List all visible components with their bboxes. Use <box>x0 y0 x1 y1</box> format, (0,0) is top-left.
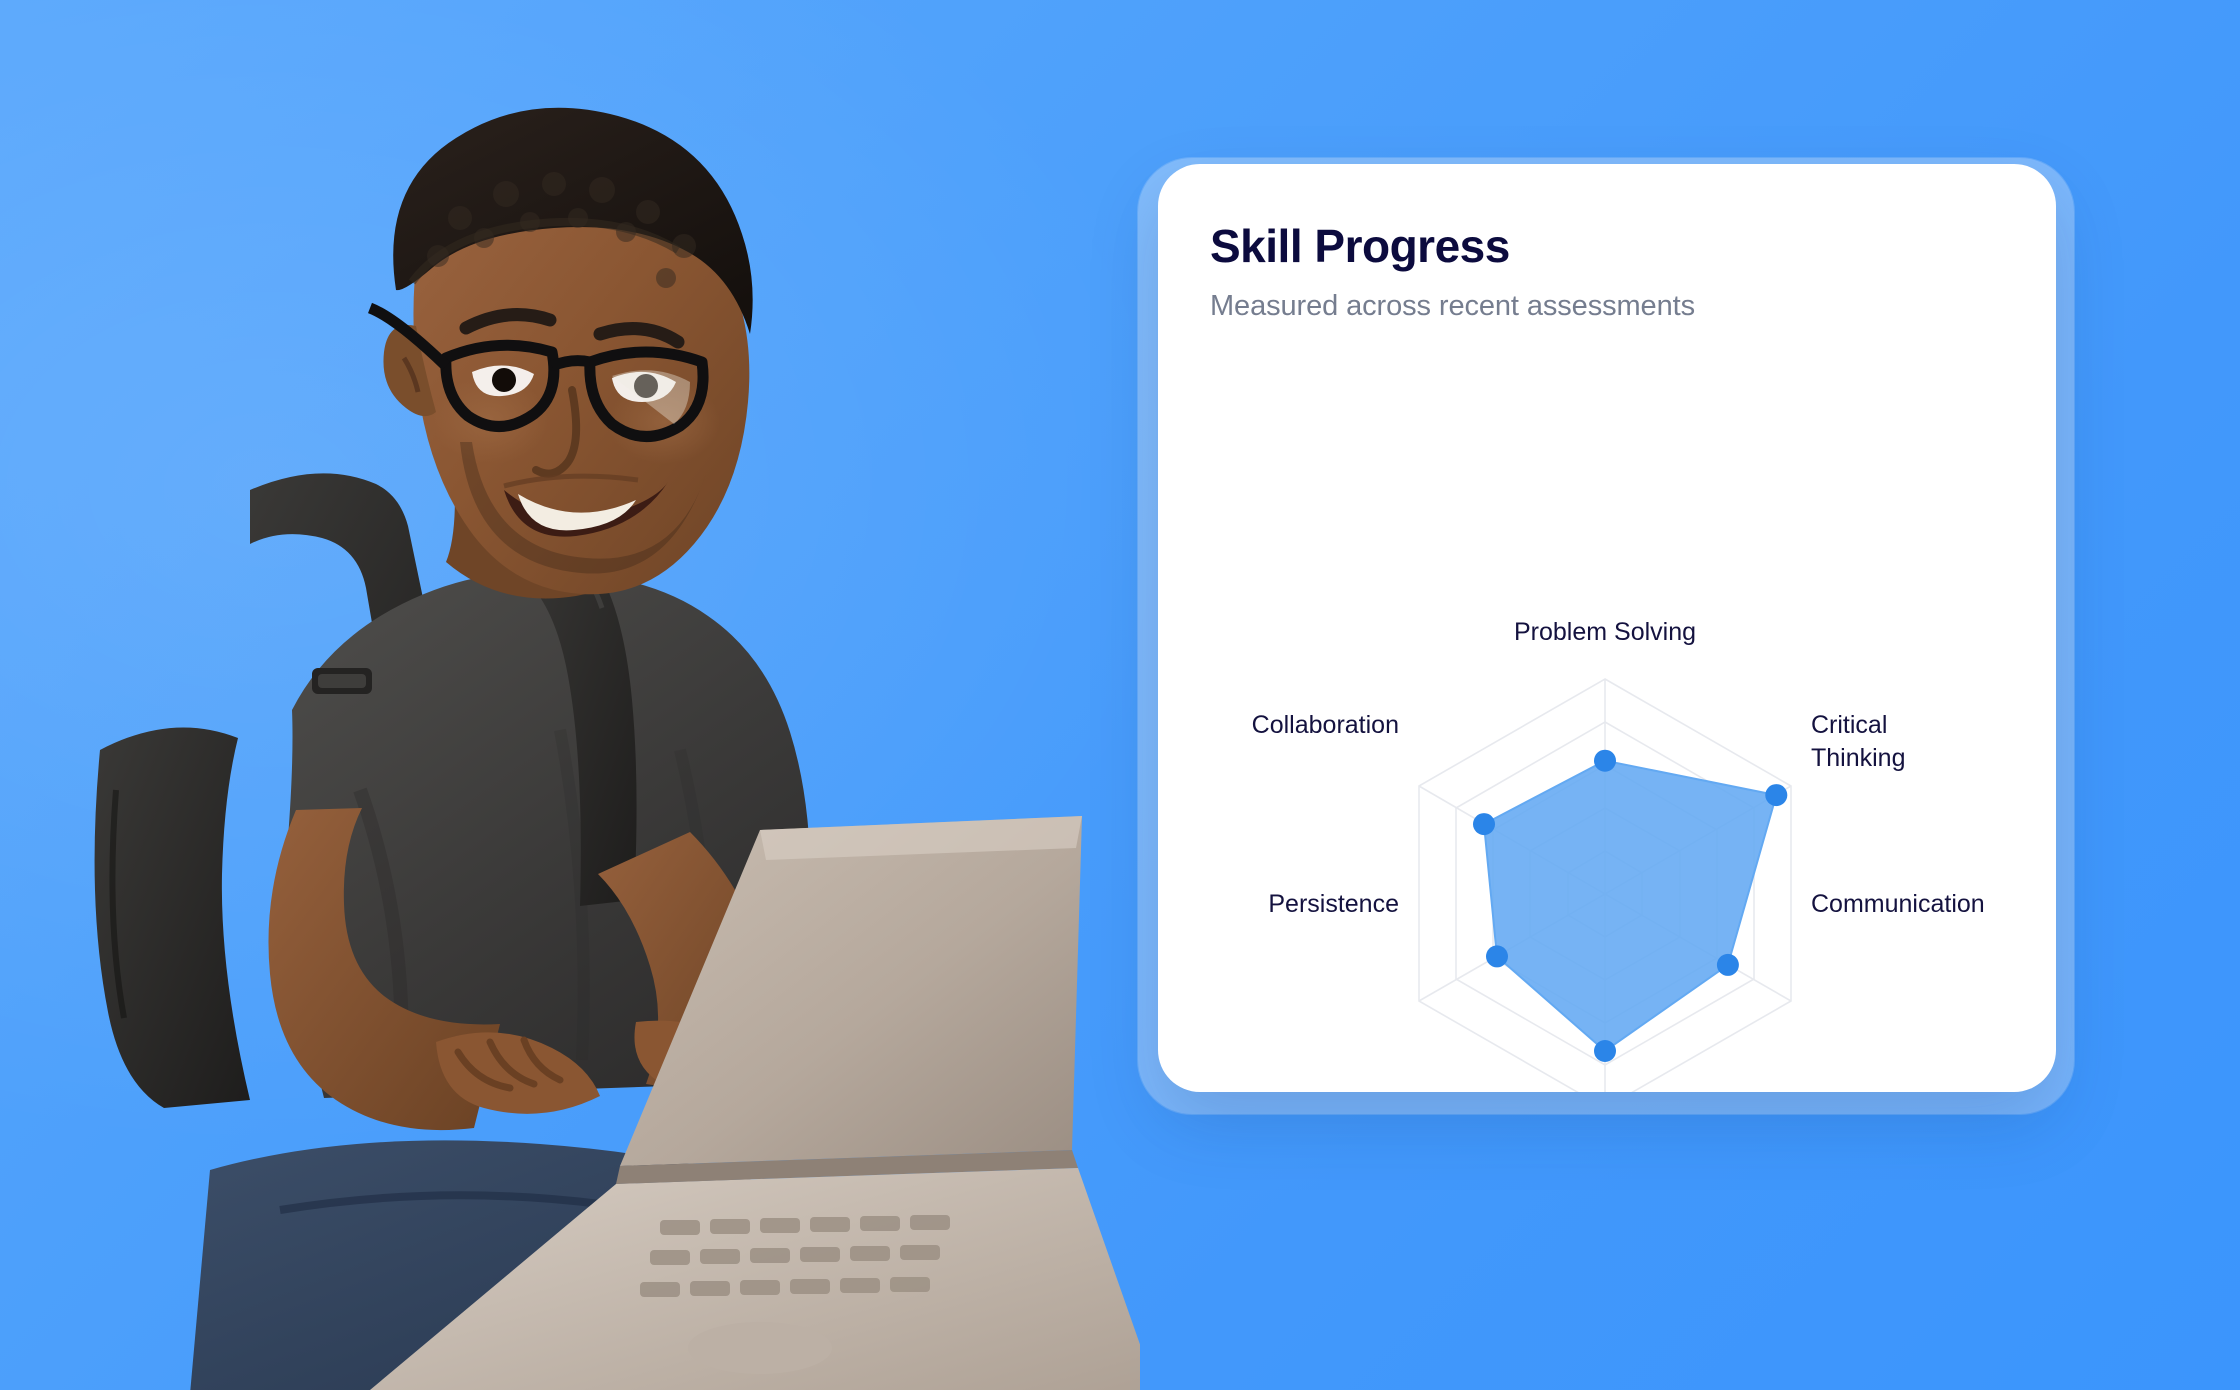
data-point-problem-solving[interactable] <box>1594 750 1616 772</box>
data-point-critical-thinking[interactable] <box>1765 784 1787 806</box>
skill-progress-card: Skill Progress Measured across recent as… <box>1158 164 2056 1092</box>
axis-label-critical-thinking-line2: Thinking <box>1811 744 1906 772</box>
student-with-laptop-photo <box>60 90 1140 1390</box>
data-point-communication[interactable] <box>1717 954 1739 976</box>
axis-label-communication: Communication <box>1811 890 1985 918</box>
data-point-collaboration[interactable] <box>1473 813 1495 835</box>
axis-label-problem-solving: Problem Solving <box>1514 618 1696 646</box>
card-subtitle: Measured across recent assessments <box>1210 290 2056 323</box>
axis-label-persistence: Persistence <box>1268 890 1399 918</box>
series-area-skill-progress <box>1484 761 1776 1051</box>
data-point-self-management[interactable] <box>1594 1040 1616 1062</box>
axis-label-critical-thinking-line1: Critical <box>1811 711 1887 739</box>
data-point-persistence[interactable] <box>1486 945 1508 967</box>
axis-label-collaboration: Collaboration <box>1252 711 1399 739</box>
page-title: Skill Progress <box>1210 222 2056 270</box>
radar-chart: Problem Solving Critical Thinking Commun… <box>1158 332 2056 1092</box>
card-header: Skill Progress Measured across recent as… <box>1158 164 2056 323</box>
